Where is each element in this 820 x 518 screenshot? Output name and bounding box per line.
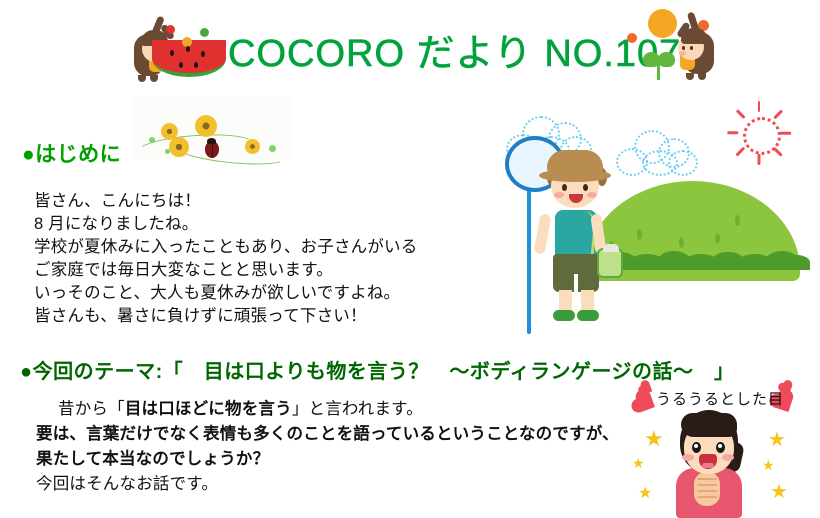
hill-speck (679, 237, 684, 248)
girl-eye (692, 442, 701, 453)
boy-sandal (577, 310, 599, 321)
theme-line-pre: 昔から「 (58, 400, 125, 418)
sun-ray (773, 109, 783, 119)
kid-leg (686, 73, 694, 80)
page-title: COCORO だより NO.107 (228, 22, 681, 77)
summer-scene-illustration (470, 96, 820, 346)
right-kid-illustration (672, 18, 732, 80)
sunflower-icon (195, 115, 217, 137)
theme-line-pre: 今回はそんなお話です。 (36, 475, 218, 493)
heart-icon (636, 394, 655, 412)
sun-ray (773, 147, 783, 157)
hand-crease (697, 478, 717, 480)
boy-hat (547, 150, 603, 176)
ladybug-icon (205, 141, 219, 158)
sparkle-star-icon: ★ (644, 428, 664, 450)
theme-line: 果たして本当なのでしょうか？ (36, 447, 619, 472)
sun-ray (735, 147, 745, 157)
sparkle-star-icon: ★ (770, 482, 788, 502)
theme-line: 要は、言葉だけでなく表情も多くのことを語っているということなのですが、 (36, 422, 619, 447)
sun-ray (727, 132, 738, 135)
watermelon-seed (194, 62, 198, 68)
newsletter-header: COCORO だより NO.107 (0, 0, 820, 96)
header-small-dot (627, 33, 637, 43)
watermelon-seed (186, 46, 190, 52)
kid-eye (682, 46, 685, 50)
sparkle-star-icon: ★ (768, 430, 786, 450)
theme-line: 昔から「目は口ほどに物を言う」と言われます。 (36, 397, 619, 422)
confetti-dot-green (200, 28, 209, 37)
hand-crease (697, 496, 717, 498)
sparkle-star-icon: ★ (638, 486, 652, 502)
section-heading-intro: ●はじめに (22, 138, 121, 168)
sun-icon (728, 102, 790, 164)
intro-line: ご家庭では毎日大変なことと思います。 (34, 259, 417, 282)
intro-line: 皆さんも、暑さに負けずに頑張って下さい！ (34, 305, 417, 328)
sun-ray (758, 154, 761, 165)
girl-scene-illustration: うるうるとした目 ★ ★ ★ ★ ★ ★ (620, 378, 820, 515)
hand-crease (697, 490, 717, 492)
girl-eye (716, 442, 725, 453)
theme-line-bold: 果たして本当なのでしょうか？ (36, 450, 269, 468)
hill-speck (715, 233, 720, 244)
theme-line-post: 」と言われます。 (292, 400, 423, 418)
theme-line-bold: 要は、言葉だけでなく表情も多くのことを語っているということなのですが、 (36, 425, 619, 443)
girl-cheek (722, 454, 734, 461)
girl-caption: うるうるとした目 (656, 388, 784, 409)
boy-arm-left (534, 213, 552, 254)
watermelon-seed (201, 51, 205, 57)
butterfly-net-pole (527, 182, 531, 334)
boy-leg (581, 290, 594, 312)
boy-sandal (553, 310, 575, 321)
sun-ray (735, 109, 745, 119)
kid-cheek (679, 51, 686, 56)
sunflower-icon (169, 137, 189, 157)
boy-shorts (553, 254, 599, 292)
intro-line: いっそのこと、大人も夏休みが欲しいですよね。 (34, 282, 417, 305)
ladybug-head (207, 138, 216, 144)
kid-leg (698, 73, 706, 80)
caption-row: うるうるとした目 (620, 382, 820, 408)
kid-leg (150, 75, 158, 82)
sparkle-star-icon: ★ (632, 456, 645, 470)
kid-leg (138, 75, 146, 82)
intro-line: 学校が夏休みに入ったこともあり、お子さんがいる (34, 236, 417, 259)
kid-eye (690, 46, 693, 50)
intro-line: 皆さん、こんにちは！ (34, 190, 417, 213)
bush (784, 255, 810, 270)
watermelon-seed (170, 50, 174, 56)
vine-dot (149, 137, 155, 143)
cloud-icon (616, 130, 698, 172)
sun-ray (758, 101, 761, 112)
theme-line: 今回はそんなお話です。 (36, 472, 619, 497)
boy-cheek (554, 192, 564, 198)
boy-eye (583, 184, 588, 191)
girl-fringe (681, 413, 737, 437)
boy-leg (559, 290, 572, 312)
boy-eye (562, 184, 567, 191)
intro-paragraph: 皆さん、こんにちは！ 8 月になりましたね。 学校が夏休みに入ったこともあり、お… (34, 190, 417, 328)
hand-crease (697, 484, 717, 486)
cloud-puff (668, 150, 698, 176)
sunflower-icon (245, 139, 260, 154)
sunflower-ladybug-decoration (133, 97, 293, 159)
boy-illustration (505, 144, 615, 344)
hill-speck (735, 215, 740, 226)
confetti-dot-red (166, 25, 175, 34)
hill-speck (637, 229, 642, 240)
theme-line-bold: 目は口ほどに物を言う (125, 400, 292, 418)
sun-ray (780, 132, 791, 135)
kid-hair (681, 28, 708, 44)
vine-swirl (172, 135, 288, 169)
girl-figure (672, 410, 768, 515)
vine-dot (269, 145, 276, 152)
insect-cage (597, 248, 623, 278)
watermelon-illustration (152, 40, 226, 77)
intro-line: 8 月になりましたね。 (34, 213, 417, 236)
girl-clasped-hands (694, 472, 720, 506)
girl-cheek (682, 454, 694, 461)
boy-cheek (587, 192, 597, 198)
theme-paragraph: 昔から「目は口ほどに物を言う」と言われます。 要は、言葉だけでなく表情も多くのこ… (36, 397, 619, 497)
watermelon-seed (179, 62, 183, 68)
